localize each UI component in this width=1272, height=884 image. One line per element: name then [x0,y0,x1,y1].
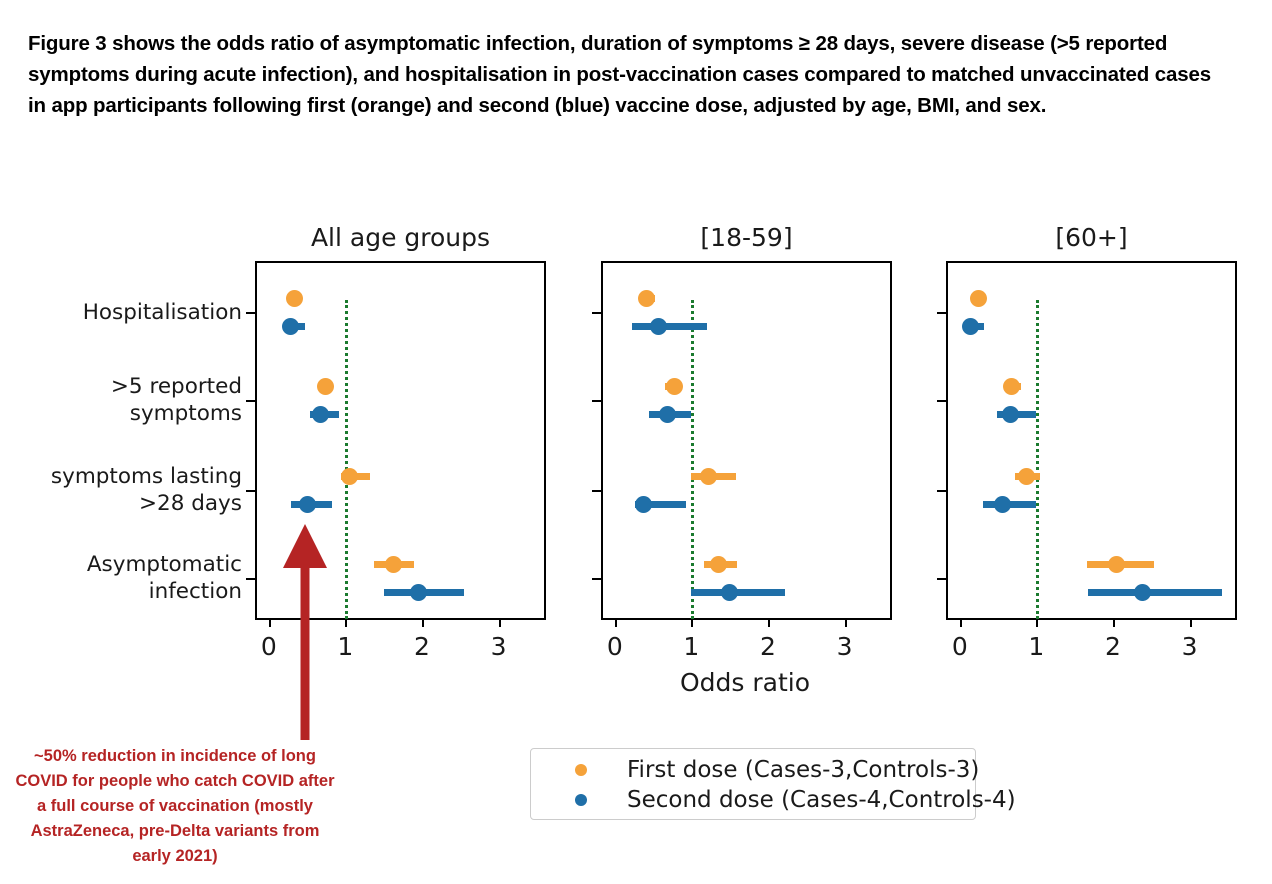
x-tick-1-2 [422,620,424,627]
x-tick-label-3-1: 1 [1016,632,1056,661]
legend-item-first-dose: First dose (Cases-3,Controls-3) [531,755,975,785]
row-label-3: symptoms lasting >28 days [30,463,242,517]
ci-bar-p2-s2-r1 [632,323,707,330]
y-tick-1-3 [246,578,255,580]
x-tick-3-1 [1036,620,1038,627]
data-point-p3-s2-r3 [994,496,1011,513]
legend: First dose (Cases-3,Controls-3) Second d… [530,748,976,820]
data-point-p2-s2-r3 [635,496,652,513]
panel-title-1: All age groups [255,223,546,252]
data-point-p1-s1-r2 [317,378,334,395]
y-tick-3-2 [937,490,946,492]
x-tick-label-2-2: 2 [748,632,788,661]
data-point-p2-s1-r3 [700,468,717,485]
x-axis-label: Odds ratio [625,668,865,697]
x-tick-label-2-0: 0 [595,632,635,661]
data-point-p1-s1-r1 [286,290,303,307]
data-point-p1-s2-r1 [282,318,299,335]
x-tick-label-3-2: 2 [1093,632,1133,661]
x-tick-1-0 [269,620,271,627]
y-tick-1-0 [246,312,255,314]
y-tick-2-2 [592,490,601,492]
row-label-1: Hospitalisation [30,299,242,326]
reference-line-panel-1 [345,300,348,619]
x-tick-label-3-0: 0 [940,632,980,661]
x-tick-2-1 [691,620,693,627]
y-tick-3-1 [937,400,946,402]
x-tick-2-2 [768,620,770,627]
x-tick-label-1-3: 3 [479,632,519,661]
legend-item-second-dose: Second dose (Cases-4,Controls-4) [531,785,975,815]
data-point-p2-s1-r2 [666,378,683,395]
x-tick-1-3 [499,620,501,627]
data-point-p2-s2-r4 [721,584,738,601]
data-point-p1-s2-r4 [410,584,427,601]
data-point-p3-s2-r2 [1002,406,1019,423]
data-point-p1-s2-r3 [299,496,316,513]
data-point-p3-s2-r1 [962,318,979,335]
y-tick-1-1 [246,400,255,402]
reference-line-panel-3 [1036,300,1039,619]
data-point-p1-s1-r4 [385,556,402,573]
red-up-arrow [277,520,333,740]
y-tick-3-3 [937,578,946,580]
x-tick-2-0 [615,620,617,627]
data-point-p2-s2-r2 [659,406,676,423]
data-point-p2-s1-r4 [710,556,727,573]
x-tick-3-0 [960,620,962,627]
ci-bar-p3-s2-r4 [1088,589,1221,596]
x-tick-label-3-3: 3 [1170,632,1210,661]
y-tick-1-2 [246,490,255,492]
ci-bar-p2-s2-r4 [691,589,784,596]
legend-marker-first-dose [575,764,587,776]
annotation-text: ~50% reduction in incidence of long COVI… [10,744,340,869]
x-tick-label-2-3: 3 [825,632,865,661]
row-label-2: >5 reported symptoms [30,373,242,427]
y-tick-2-0 [592,312,601,314]
data-point-p3-s2-r4 [1134,584,1151,601]
x-tick-2-3 [845,620,847,627]
legend-label-second-dose: Second dose (Cases-4,Controls-4) [627,785,1016,815]
data-point-p1-s1-r3 [341,468,358,485]
data-point-p3-s1-r2 [1003,378,1020,395]
data-point-p3-s1-r4 [1108,556,1125,573]
data-point-p2-s2-r1 [650,318,667,335]
y-tick-2-3 [592,578,601,580]
legend-marker-second-dose [575,794,587,806]
data-point-p1-s2-r2 [312,406,329,423]
x-tick-label-1-2: 2 [402,632,442,661]
plot-panel-2 [601,261,892,620]
x-tick-3-3 [1190,620,1192,627]
data-point-p3-s1-r3 [1018,468,1035,485]
data-point-p2-s1-r1 [638,290,655,307]
panel-title-3: [60+] [946,223,1237,252]
x-tick-3-2 [1113,620,1115,627]
data-point-p3-s1-r1 [970,290,987,307]
legend-label-first-dose: First dose (Cases-3,Controls-3) [627,755,979,785]
x-tick-label-2-1: 1 [671,632,711,661]
y-tick-3-0 [937,312,946,314]
row-label-4: Asymptomatic infection [30,551,242,605]
reference-line-panel-2 [691,300,694,619]
forest-plot-figure: All age groups0123[18-59]0123[60+]0123Ho… [0,0,1272,884]
panel-title-2: [18-59] [601,223,892,252]
x-tick-1-1 [345,620,347,627]
y-tick-2-1 [592,400,601,402]
